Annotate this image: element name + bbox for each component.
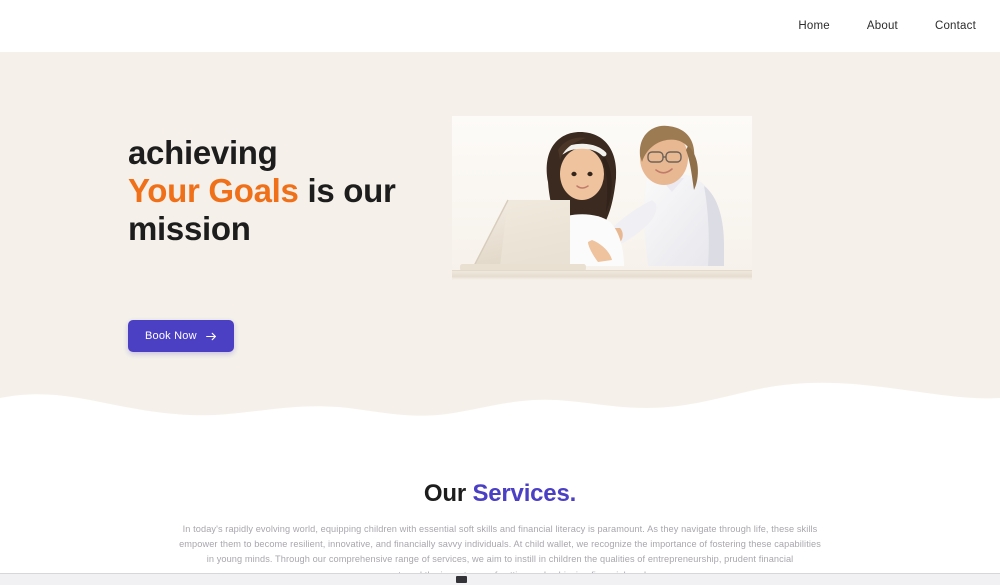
book-now-label: Book Now <box>145 330 197 342</box>
hero-title-line2-rest: is our <box>299 172 396 209</box>
hero-image <box>452 116 752 280</box>
nav-links: Home About Contact <box>796 16 978 36</box>
top-navbar: Home About Contact <box>0 0 1000 52</box>
arrow-right-icon <box>206 332 217 341</box>
nav-link-about[interactable]: About <box>865 16 900 36</box>
services-title-plain: Our <box>424 480 473 507</box>
hero-text-block: achieving Your Goals is our mission <box>128 134 458 248</box>
browser-bottom-bar <box>0 573 1000 585</box>
hero-section: achieving Your Goals is our mission Book… <box>0 52 1000 420</box>
nav-link-home[interactable]: Home <box>796 16 831 36</box>
nav-link-contact[interactable]: Contact <box>933 16 978 36</box>
hero-title-line3: mission <box>128 210 251 247</box>
wave-divider <box>0 352 1000 420</box>
bottom-indicator <box>456 576 467 583</box>
page-root: Home About Contact achieving Your Goals … <box>0 0 1000 585</box>
services-title: Our Services. <box>0 480 1000 508</box>
book-now-button[interactable]: Book Now <box>128 320 234 352</box>
services-section: Our Services. In today's rapidly evolvin… <box>0 420 1000 573</box>
hero-title: achieving Your Goals is our mission <box>128 134 458 248</box>
hero-title-line1: achieving <box>128 134 278 171</box>
hero-inner: achieving Your Goals is our mission Book… <box>0 52 1000 420</box>
hero-image-desk-shadow <box>452 271 752 280</box>
hero-title-accent: Your Goals <box>128 172 299 209</box>
services-title-accent: Services. <box>472 480 576 507</box>
